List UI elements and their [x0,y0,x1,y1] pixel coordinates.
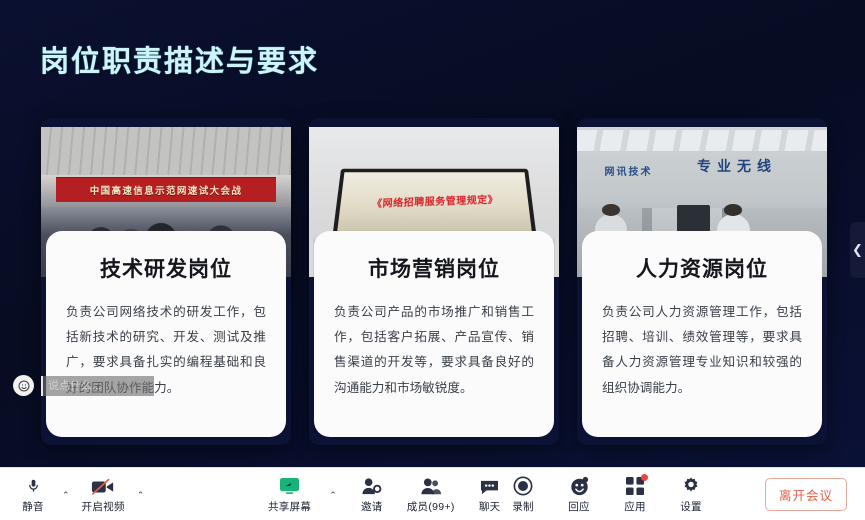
job-card-hr: 网讯技术 专业无线 人力资源岗位 负责公司人力资源管理工作，包括招聘、培训、绩效… [577,118,827,445]
leave-meeting-button[interactable]: 离开会议 [765,478,847,511]
chevron-left-icon[interactable]: ❮ [850,222,865,278]
people-icon [420,475,442,496]
toolbar-record-label: 录制 [512,499,534,514]
camera-off-icon [91,475,115,496]
card-heading: 市场营销岗位 [334,253,534,283]
toolbar-members-label: 成员(99+) [407,499,455,514]
wall-text-secondary: 专业无线 [697,156,777,176]
microphone-icon [26,475,41,496]
toolbar-left-group: 静音 ⌃ 开启视频 ⌃ [16,475,144,514]
toolbar-mute-button[interactable]: 静音 [16,475,50,514]
toolbar-members-button[interactable]: 成员(99+) [407,475,455,514]
toolbar-chat-button[interactable]: 聊天 [473,475,507,514]
card-list: 中国高速信息示范网速试大会战 技术研发岗位 负责公司网络技术的研发工作，包括新技… [0,118,865,448]
screen-share-icon [279,475,300,496]
record-circle-icon [513,475,533,496]
card-text-panel: 技术研发岗位 负责公司网络技术的研发工作，包括新技术的研究、开发、测试及推广，要… [46,231,286,437]
chat-input[interactable] [41,376,154,396]
toolbar-mute-label: 静音 [22,499,44,514]
toolbar-right-group: 录制 回应 [506,475,708,514]
chevron-up-icon-share[interactable]: ⌃ [329,490,337,501]
toolbar-apps-label: 应用 [624,499,646,514]
ceiling-lights [577,130,827,151]
page-title: 岗位职责描述与要求 [40,38,319,80]
person-add-icon [361,475,382,496]
smiley-icon[interactable] [13,375,34,396]
chevron-up-icon-audio[interactable]: ⌃ [62,490,70,501]
card-text-panel: 市场营销岗位 负责公司产品的市场推广和销售工作，包括客户拓展、产品宣传、销售渠道… [314,231,554,437]
ceiling-texture [41,127,291,175]
toolbar-chat-label: 聊天 [479,499,501,514]
toolbar-reaction-label: 回应 [568,499,590,514]
meeting-toolbar: 静音 ⌃ 开启视频 ⌃ [0,467,865,520]
gear-icon [681,475,701,496]
toolbar-settings-button[interactable]: 设置 [674,475,708,514]
card-heading: 人力资源岗位 [602,253,802,283]
toolbar-apps-button[interactable]: 应用 [618,475,652,514]
emoji-reaction-icon [569,475,590,496]
toolbar-video-button[interactable]: 开启视频 [82,475,125,514]
toolbar-share-screen-button[interactable]: 共享屏幕 [268,475,311,514]
toolbar-settings-label: 设置 [680,499,702,514]
toolbar-reaction-button[interactable]: 回应 [562,475,596,514]
toolbar-center-group: 共享屏幕 ⌃ 邀请 [268,475,507,514]
card-text-panel: 人力资源岗位 负责公司人力资源管理工作，包括招聘、培训、绩效管理等，要求具备人力… [582,231,822,437]
photo-banner-text: 中国高速信息示范网速试大会战 [56,177,276,203]
toolbar-video-label: 开启视频 [82,499,125,514]
toolbar-invite-label: 邀请 [361,499,383,514]
toolbar-share-label: 共享屏幕 [268,499,311,514]
job-card-marketing: 《网络招聘服务管理规定》 市场营销岗位 负责公司产品的市场推广和销售工作，包括客… [309,118,559,445]
apps-badge-dot [641,474,648,481]
card-body: 负责公司人力资源管理工作，包括招聘、培训、绩效管理等，要求具备人力资源管理专业知… [602,300,802,401]
meeting-window: 岗位职责描述与要求 中国高速信息示范网速试大会战 技术研发岗位 负责公司网络技术… [0,0,865,520]
card-heading: 技术研发岗位 [66,253,266,283]
chevron-up-icon-video[interactable]: ⌃ [137,490,145,501]
slide-canvas: 岗位职责描述与要求 中国高速信息示范网速试大会战 技术研发岗位 负责公司网络技术… [0,0,865,467]
chat-composer [13,375,154,396]
chat-bubble-icon [479,475,500,496]
toolbar-record-button[interactable]: 录制 [506,475,540,514]
toolbar-invite-button[interactable]: 邀请 [355,475,389,514]
wall-text-primary: 网讯技术 [605,163,653,178]
shared-screen-stage: 岗位职责描述与要求 中国高速信息示范网速试大会战 技术研发岗位 负责公司网络技术… [0,0,865,467]
card-body: 负责公司产品的市场推广和销售工作，包括客户拓展、产品宣传、销售渠道的开发等，要求… [334,300,534,401]
monitor-shape [677,205,710,232]
toolbar-end-group: 离开会议 [765,478,847,511]
